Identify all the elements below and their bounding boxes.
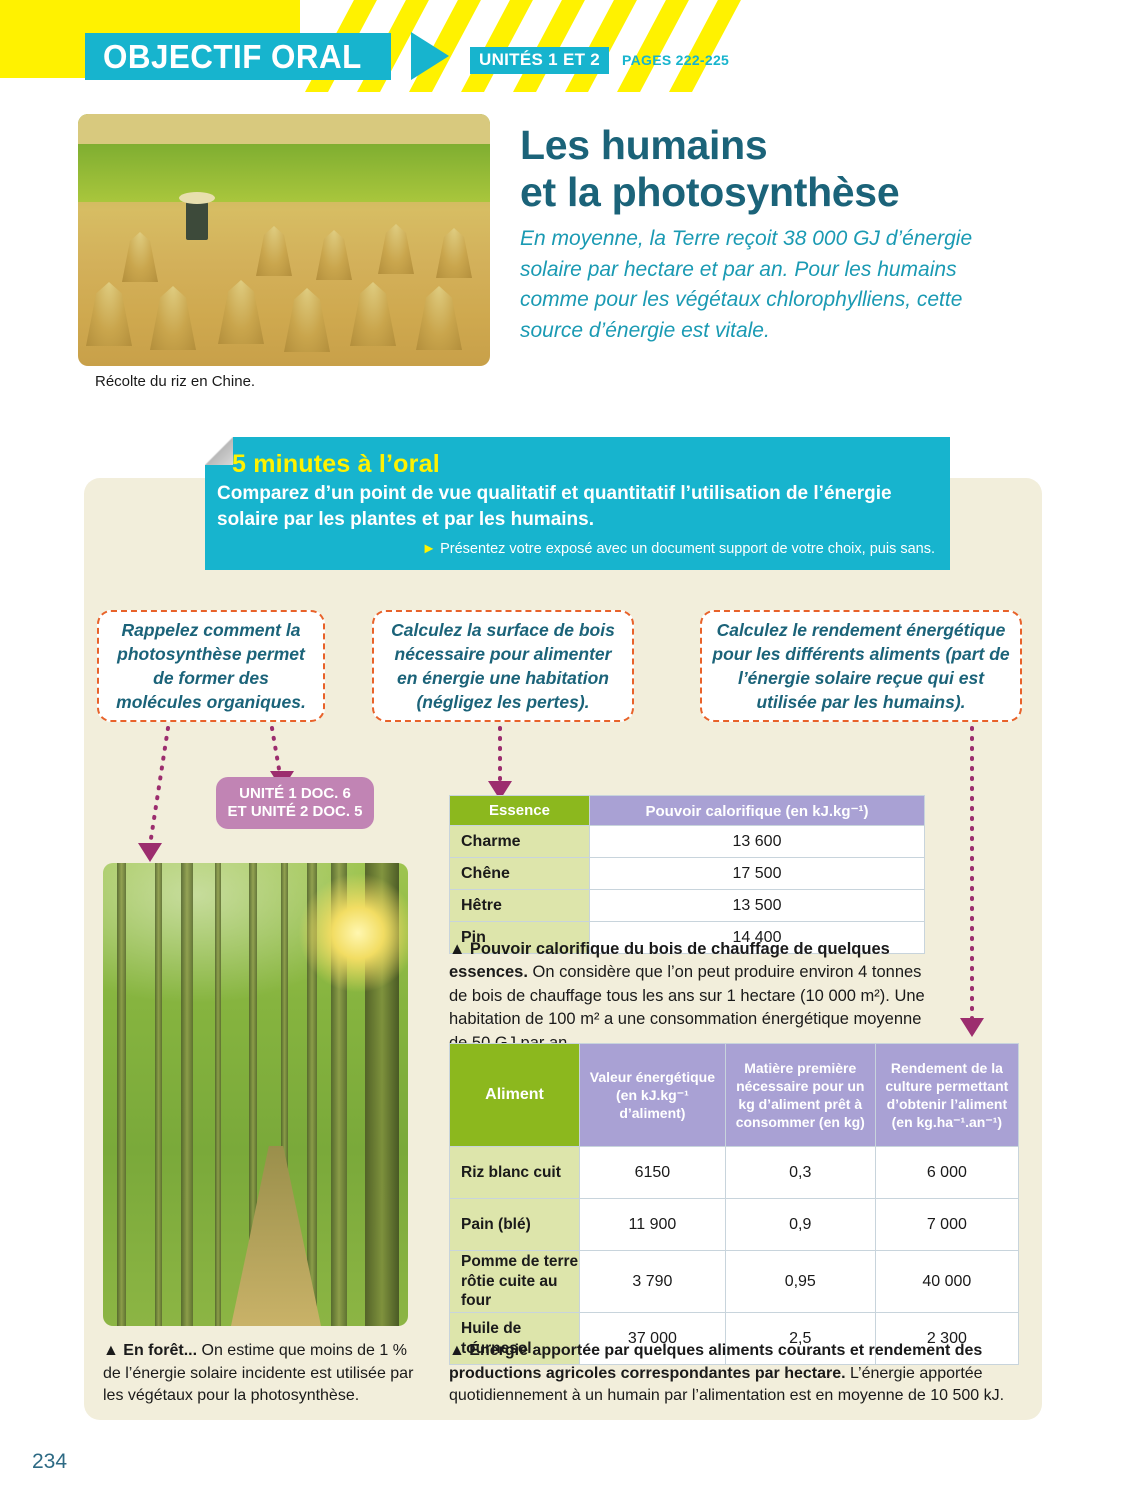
question-box-2: Calculez la surface de bois nécessaire p… [372, 610, 634, 722]
cell-rendement: 6 000 [875, 1147, 1018, 1199]
arrowhead-4 [960, 1018, 984, 1037]
hdr2-line2: (en kJ.kg⁻¹ [585, 1086, 720, 1104]
question-box-1: Rappelez comment la photosynthèse permet… [97, 610, 325, 722]
hdr3-line2: nécessaire pour un [731, 1077, 870, 1095]
table-row: Charme 13 600 [450, 826, 925, 858]
forest-photo-caption: ▲ En forêt... On estime que moins de 1 %… [103, 1340, 415, 1408]
cell-essence: Hêtre [450, 890, 590, 922]
cell-aliment: Riz blanc cuit [450, 1147, 580, 1199]
cell-aliment: Pomme de terre rôtie cuite au four [450, 1251, 580, 1313]
food-table-caption: ▲ Énergie apportée par quelques aliments… [449, 1340, 1009, 1408]
page-number: 234 [32, 1450, 67, 1474]
wood-table-caption: ▲ Pouvoir calorifique du bois de chauffa… [449, 938, 942, 1055]
cell-aliment: Pain (blé) [450, 1199, 580, 1251]
cell-essence: Chêne [450, 858, 590, 890]
doc-reference-chip[interactable]: UNITÉ 1 DOC. 6 ET UNITÉ 2 DOC. 5 [216, 777, 374, 829]
doc-reference-line2: ET UNITÉ 2 DOC. 5 [227, 803, 362, 821]
sun-glow-icon [298, 873, 408, 993]
cell-aliment-line1: Pomme de terre [461, 1252, 579, 1271]
table-header-row: Aliment Valeur énergétique (en kJ.kg⁻¹ d… [450, 1044, 1019, 1147]
triangle-bullet-icon: ► [422, 541, 436, 557]
cell-energie: 11 900 [580, 1199, 726, 1251]
question-box-3-text: Calculez le rendement énergétique pour l… [712, 618, 1010, 715]
table-row: Pomme de terre rôtie cuite au four 3 790… [450, 1251, 1019, 1313]
doc-reference-line1: UNITÉ 1 DOC. 6 [239, 785, 351, 803]
question-box-2-text: Calculez la surface de bois nécessaire p… [384, 618, 622, 715]
hdr2-line3: d’aliment) [585, 1104, 720, 1122]
col-header-matiere-premiere: Matière première nécessaire pour un kg d… [725, 1044, 875, 1147]
wood-calorific-table: Essence Pouvoir calorifique (en kJ.kg⁻¹)… [449, 795, 925, 954]
cell-matiere: 0,3 [725, 1147, 875, 1199]
hdr4-line1: Rendement de la [881, 1059, 1013, 1077]
cell-rendement: 40 000 [875, 1251, 1018, 1313]
forest-path-photo [103, 863, 408, 1326]
hdr3-line4: consommer (en kg) [731, 1113, 870, 1131]
cell-energie: 3 790 [580, 1251, 726, 1313]
col-header-pouvoir-calorifique: Pouvoir calorifique (en kJ.kg⁻¹) [590, 796, 925, 826]
cell-energie: 6150 [580, 1147, 726, 1199]
forest-caption-bold: ▲ En forêt... [103, 1342, 197, 1359]
table-row: Riz blanc cuit 6150 0,3 6 000 [450, 1147, 1019, 1199]
cell-matiere: 0,9 [725, 1199, 875, 1251]
table-row: Pain (blé) 11 900 0,9 7 000 [450, 1199, 1019, 1251]
hdr3-line1: Matière première [731, 1059, 870, 1077]
hdr2-line1: Valeur énergétique [585, 1068, 720, 1086]
cell-rendement: 7 000 [875, 1199, 1018, 1251]
cell-essence: Charme [450, 826, 590, 858]
question-box-1-text: Rappelez comment la photosynthèse permet… [109, 618, 313, 715]
cell-value: 13 500 [590, 890, 925, 922]
oral-box-subinstruction-text: Présentez votre exposé avec un document … [440, 541, 935, 557]
col-header-rendement-culture: Rendement de la culture permettant d’obt… [875, 1044, 1018, 1147]
table-header-row: Essence Pouvoir calorifique (en kJ.kg⁻¹) [450, 796, 925, 826]
hdr4-line3: d’obtenir l’aliment [881, 1095, 1013, 1113]
col-header-valeur-energetique: Valeur énergétique (en kJ.kg⁻¹ d’aliment… [580, 1044, 726, 1147]
food-energy-table: Aliment Valeur énergétique (en kJ.kg⁻¹ d… [449, 1043, 1019, 1365]
hdr3-line3: kg d’aliment prêt à [731, 1095, 870, 1113]
table-row: Hêtre 13 500 [450, 890, 925, 922]
cell-matiere: 0,95 [725, 1251, 875, 1313]
cell-value: 13 600 [590, 826, 925, 858]
oral-box-title: 5 minutes à l’oral [232, 450, 440, 479]
arrow-path-2 [272, 728, 280, 775]
table-row: Chêne 17 500 [450, 858, 925, 890]
corner-fold-decoration [205, 437, 233, 465]
arrow-path-1 [150, 728, 168, 845]
hdr4-line4: (en kg.ha⁻¹.an⁻¹) [881, 1113, 1013, 1131]
question-box-3: Calculez le rendement énergétique pour l… [700, 610, 1022, 722]
col-header-aliment: Aliment [450, 1044, 580, 1147]
cell-value: 17 500 [590, 858, 925, 890]
col-header-essence: Essence [450, 796, 590, 826]
arrowhead-1 [138, 843, 162, 862]
cell-aliment-line2: rôtie cuite au four [461, 1272, 579, 1311]
hdr4-line2: culture permettant [881, 1077, 1013, 1095]
oral-box-instruction: Comparez d’un point de vue qualitatif et… [217, 481, 935, 533]
oral-box-subinstruction: ► Présentez votre exposé avec un documen… [217, 541, 935, 557]
